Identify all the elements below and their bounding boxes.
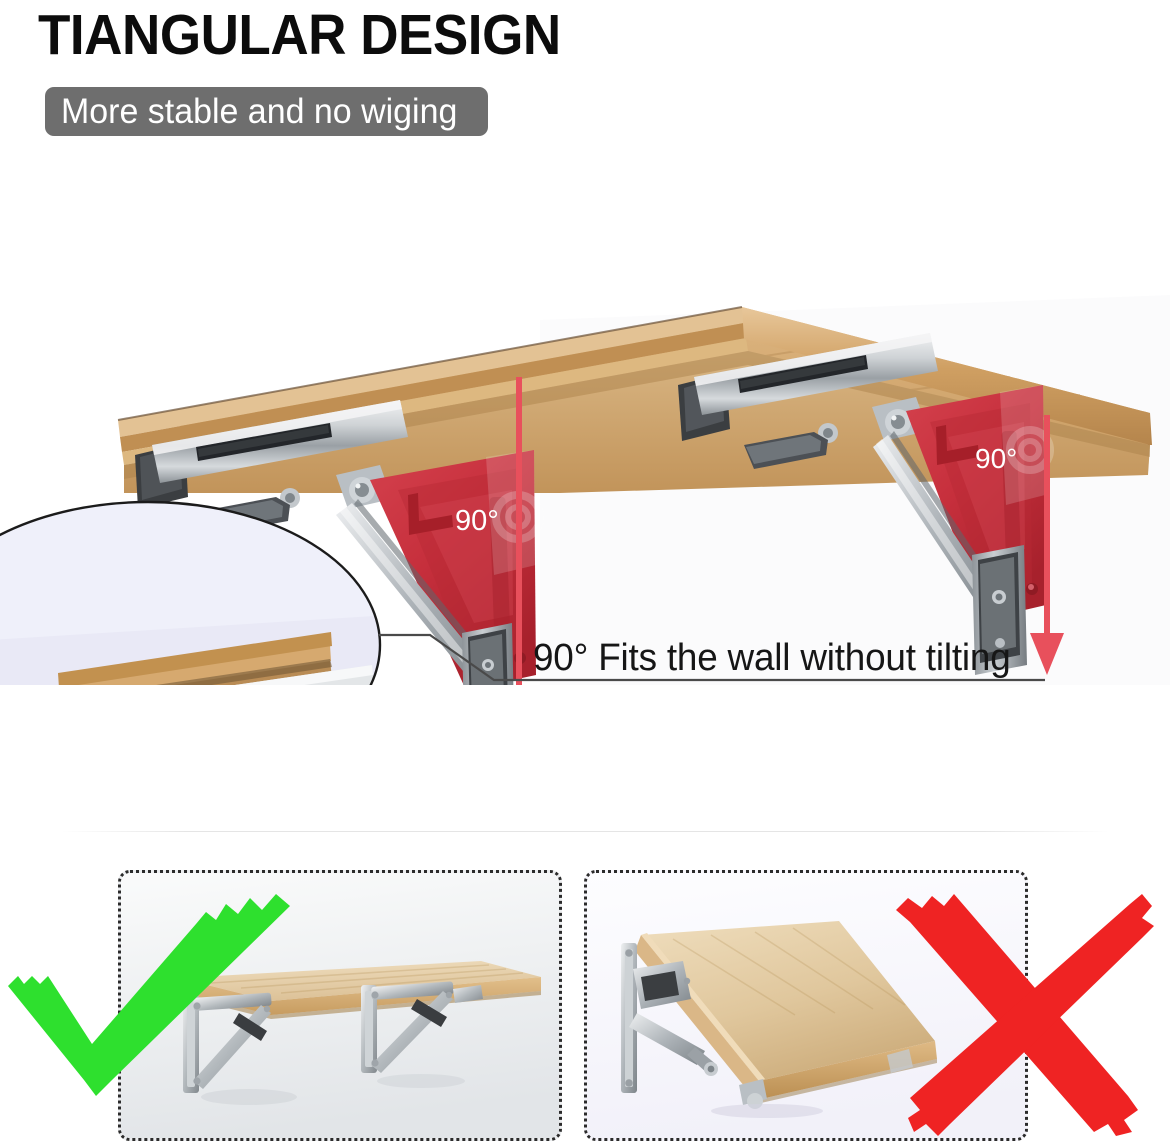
angle-label-right-text: 90° [975, 443, 1017, 474]
hero-shelf-photo: 90° [0, 145, 1170, 685]
subtitle-badge-label: More stable and no wiging [61, 92, 457, 132]
angle-label-left-text: 90° [455, 505, 499, 537]
comparison-panel-incorrect [584, 870, 1028, 1141]
hero-caption: 90° Fits the wall without tilting [533, 637, 1010, 680]
section-divider [60, 831, 1110, 832]
subtitle-badge: More stable and no wiging [45, 87, 488, 136]
comparison-section [0, 862, 1170, 1146]
comparison-panel-correct [118, 870, 562, 1141]
product-infographic: TIANGULAR DESIGN More stable and no wigi… [0, 0, 1170, 1146]
page-title: TIANGULAR DESIGN [38, 4, 561, 66]
